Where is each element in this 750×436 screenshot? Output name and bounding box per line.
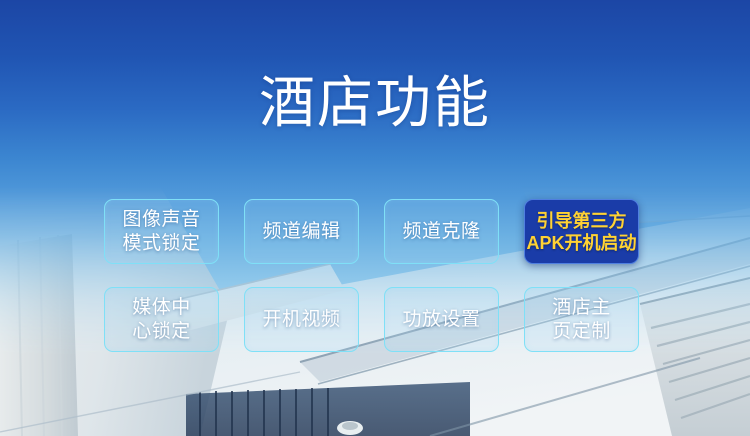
feature-channel-edit[interactable]: 频道编辑 <box>244 199 359 264</box>
feature-third-party-apk-boot[interactable]: 引导第三方 APK开机启动 <box>524 199 639 264</box>
feature-media-center-lock[interactable]: 媒体中 心锁定 <box>104 287 219 352</box>
feature-row-2: 媒体中 心锁定 开机视频 功放设置 酒店主 页定制 <box>104 287 646 352</box>
feature-amplifier-settings[interactable]: 功放设置 <box>384 287 499 352</box>
promo-banner: 酒店功能 图像声音 模式锁定 频道编辑 频道克隆 引导第三方 APK开机启动 媒… <box>0 0 750 436</box>
feature-row-1: 图像声音 模式锁定 频道编辑 频道克隆 引导第三方 APK开机启动 <box>104 199 646 264</box>
feature-boot-video[interactable]: 开机视频 <box>244 287 359 352</box>
feature-hotel-homepage-custom[interactable]: 酒店主 页定制 <box>524 287 639 352</box>
feature-image-sound-mode-lock[interactable]: 图像声音 模式锁定 <box>104 199 219 264</box>
feature-channel-clone[interactable]: 频道克隆 <box>384 199 499 264</box>
feature-grid: 图像声音 模式锁定 频道编辑 频道克隆 引导第三方 APK开机启动 媒体中 心锁… <box>104 199 646 352</box>
page-title: 酒店功能 <box>0 72 750 134</box>
